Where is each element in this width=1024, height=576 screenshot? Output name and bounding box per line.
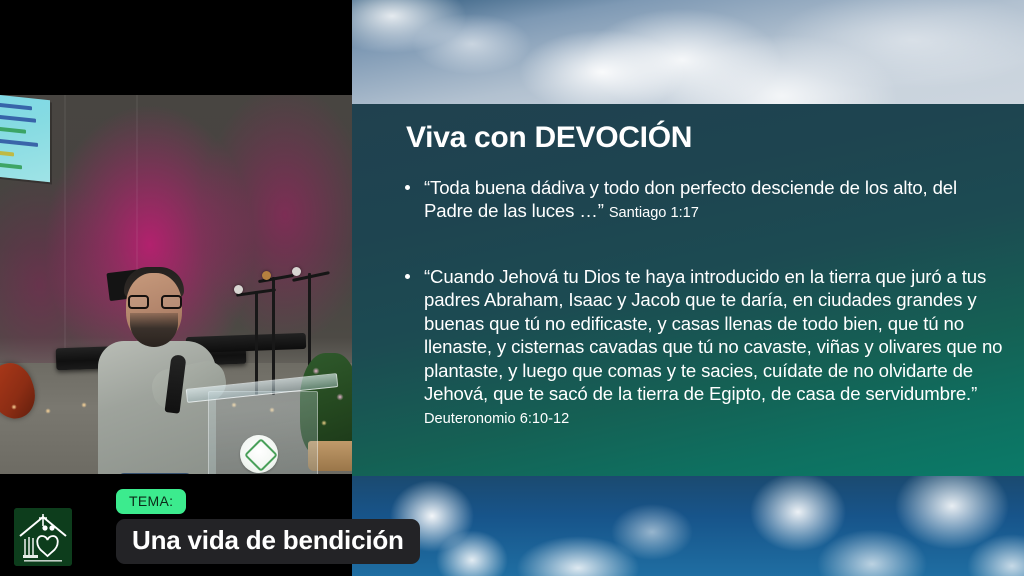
bullet-text: “Cuando Jehová tu Dios te haya introduci… bbox=[424, 266, 1002, 404]
sky-clouds-bottom bbox=[352, 476, 1024, 576]
slide-title: Viva con DEVOCIÓN bbox=[406, 121, 692, 155]
church-service-video bbox=[0, 95, 352, 474]
church-logo bbox=[14, 508, 72, 566]
bullet-dot-icon bbox=[405, 185, 410, 190]
microphone-stand bbox=[255, 291, 258, 395]
bullet-reference: Deuteronomio 6:10-12 bbox=[424, 411, 569, 427]
projected-text-line bbox=[0, 102, 32, 110]
microphone-icon bbox=[234, 285, 243, 294]
projected-text-line bbox=[0, 150, 14, 156]
broadcast-stage: Viva con DEVOCIÓN “Toda buena dádiva y t… bbox=[0, 0, 1024, 576]
projected-text-line bbox=[0, 138, 38, 147]
microphone-stand bbox=[272, 277, 275, 395]
bullet-reference: Santiago 1:17 bbox=[609, 205, 699, 221]
eyeglasses-icon bbox=[128, 295, 182, 309]
sky-clouds-top bbox=[352, 0, 1024, 112]
pulpit-logo-emblem bbox=[240, 435, 278, 473]
projected-text-line bbox=[0, 162, 22, 169]
wall-seam bbox=[64, 95, 66, 365]
projected-text-line bbox=[0, 114, 36, 123]
projection-screen bbox=[0, 95, 50, 182]
slide-bullet-item: “Cuando Jehová tu Dios te haya introduci… bbox=[402, 265, 1010, 429]
slide-bullet-list: “Toda buena dádiva y todo don perfecto d… bbox=[402, 176, 1010, 455]
projected-text-line bbox=[0, 126, 26, 134]
slide-bullet-item: “Toda buena dádiva y todo don perfecto d… bbox=[402, 176, 1010, 223]
microphone-icon bbox=[262, 271, 271, 280]
letterbox-top bbox=[0, 0, 352, 95]
presentation-slide: Viva con DEVOCIÓN “Toda buena dádiva y t… bbox=[352, 104, 1024, 476]
microphone-icon bbox=[292, 267, 301, 276]
bullet-dot-icon bbox=[405, 274, 410, 279]
speaker-body bbox=[98, 341, 216, 474]
tema-label-badge: TEMA: bbox=[116, 489, 186, 514]
sermon-title-banner: Una vida de bendición bbox=[116, 519, 420, 564]
